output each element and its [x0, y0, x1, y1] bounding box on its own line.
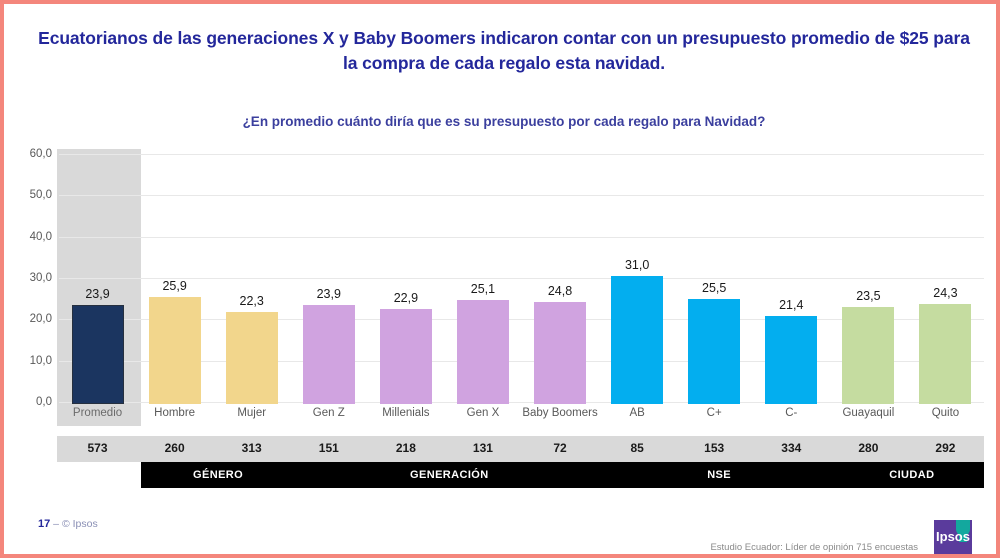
y-axis-tick-label: 10,0: [8, 355, 52, 367]
ipsos-logo: Ipsos: [934, 520, 972, 554]
x-axis-labels: PromedioHombreMujerGen ZMillenialsGen XB…: [4, 404, 1000, 436]
bar-slot: 31,0: [611, 156, 663, 404]
base-count-hombre: 260: [136, 441, 213, 455]
base-count-quito: 292: [907, 441, 984, 455]
bar-value-label: 22,3: [214, 294, 290, 308]
bar-gen-x[interactable]: [457, 300, 509, 404]
bar-value-label: 25,5: [676, 281, 752, 295]
x-axis-label-quito: Quito: [907, 406, 984, 420]
bar-c-[interactable]: [765, 316, 817, 404]
bar-value-label: 21,4: [753, 298, 829, 312]
x-axis-label-mujer: Mujer: [213, 406, 290, 420]
x-axis-label-c-: C-: [753, 406, 830, 420]
y-axis-tick-label: 20,0: [8, 313, 52, 325]
bar-slot: 25,1: [457, 156, 509, 404]
bar-gen-z[interactable]: [303, 305, 355, 404]
bar-guayaquil[interactable]: [842, 307, 894, 404]
bar-millenials[interactable]: [380, 309, 432, 404]
bar-value-label: 23,5: [830, 289, 906, 303]
x-axis-label-millenials: Millenials: [367, 406, 444, 420]
base-count-mujer: 313: [213, 441, 290, 455]
bar-c-[interactable]: [688, 299, 740, 404]
x-axis-label-c-: C+: [676, 406, 753, 420]
x-axis-label-guayaquil: Guayaquil: [830, 406, 907, 420]
base-counts-row: 5732603131512181317285153334280292: [57, 436, 984, 462]
logo-wordmark: Ipsos: [934, 529, 972, 544]
bar-quito[interactable]: [919, 304, 971, 404]
gridline: [59, 154, 984, 155]
group-band-generaci-n: GENERACIÓN: [295, 462, 603, 488]
bar-value-label: 25,1: [445, 282, 521, 296]
bar-chart: 0,010,020,030,040,050,060,0 23,925,922,3…: [4, 154, 1000, 404]
bar-value-label: 23,9: [291, 287, 367, 301]
group-band-g-nero: GÉNERO: [141, 462, 295, 488]
bar-slot: 22,3: [226, 156, 278, 404]
bar-slot: 23,9: [303, 156, 355, 404]
bar-slot: 25,9: [149, 156, 201, 404]
base-count-c-: 334: [753, 441, 830, 455]
bar-value-label: 24,8: [522, 284, 598, 298]
base-count-guayaquil: 280: [830, 441, 907, 455]
bar-slot: 24,8: [534, 156, 586, 404]
y-axis-tick-label: 60,0: [8, 148, 52, 160]
x-axis-label-promedio: Promedio: [59, 406, 136, 420]
group-band-nse: NSE: [604, 462, 835, 488]
group-band-row: GÉNEROGENERACIÓNNSECIUDAD: [141, 462, 984, 488]
base-count-gen-z: 151: [290, 441, 367, 455]
group-band-ciudad: CIUDAD: [835, 462, 989, 488]
y-axis-tick-label: 40,0: [8, 231, 52, 243]
base-count-gen-x: 131: [444, 441, 521, 455]
bar-hombre[interactable]: [149, 297, 201, 404]
y-axis-tick-label: 30,0: [8, 272, 52, 284]
footer-pagination: 17 – © Ipsos: [38, 518, 98, 530]
base-count-ab: 85: [599, 441, 676, 455]
base-count-millenials: 218: [367, 441, 444, 455]
y-axis-tick-label: 50,0: [8, 189, 52, 201]
bar-value-label: 23,9: [60, 287, 136, 301]
source-note: Estudio Ecuador: Líder de opinión 715 en…: [710, 542, 918, 553]
x-axis-label-baby-boomers: Baby Boomers: [522, 406, 599, 420]
bar-slot: 25,5: [688, 156, 740, 404]
slide-canvas: Ecuatorianos de las generaciones X y Bab…: [0, 0, 1000, 558]
bar-slot: 22,9: [380, 156, 432, 404]
bar-slot: 23,9: [72, 156, 124, 404]
x-axis-label-ab: AB: [599, 406, 676, 420]
copyright-text: © Ipsos: [62, 518, 98, 530]
base-count-baby-boomers: 72: [522, 441, 599, 455]
x-axis-label-gen-x: Gen X: [444, 406, 521, 420]
x-axis-label-hombre: Hombre: [136, 406, 213, 420]
bar-value-label: 25,9: [137, 279, 213, 293]
bar-slot: 21,4: [765, 156, 817, 404]
bar-mujer[interactable]: [226, 312, 278, 404]
bar-value-label: 31,0: [599, 258, 675, 272]
base-count-c-: 153: [676, 441, 753, 455]
bar-slot: 23,5: [842, 156, 894, 404]
page-title: Ecuatorianos de las generaciones X y Bab…: [34, 26, 974, 76]
bar-ab[interactable]: [611, 276, 663, 404]
chart-question-subtitle: ¿En promedio cuánto diría que es su pres…: [34, 114, 974, 129]
base-count-promedio: 573: [59, 441, 136, 455]
bar-baby-boomers[interactable]: [534, 302, 586, 405]
x-axis-label-gen-z: Gen Z: [290, 406, 367, 420]
page-number: 17: [38, 518, 50, 530]
bar-slot: 24,3: [919, 156, 971, 404]
bar-value-label: 24,3: [907, 286, 983, 300]
bar-promedio[interactable]: [72, 305, 124, 404]
footer-dash: –: [53, 518, 59, 530]
bar-value-label: 22,9: [368, 291, 444, 305]
